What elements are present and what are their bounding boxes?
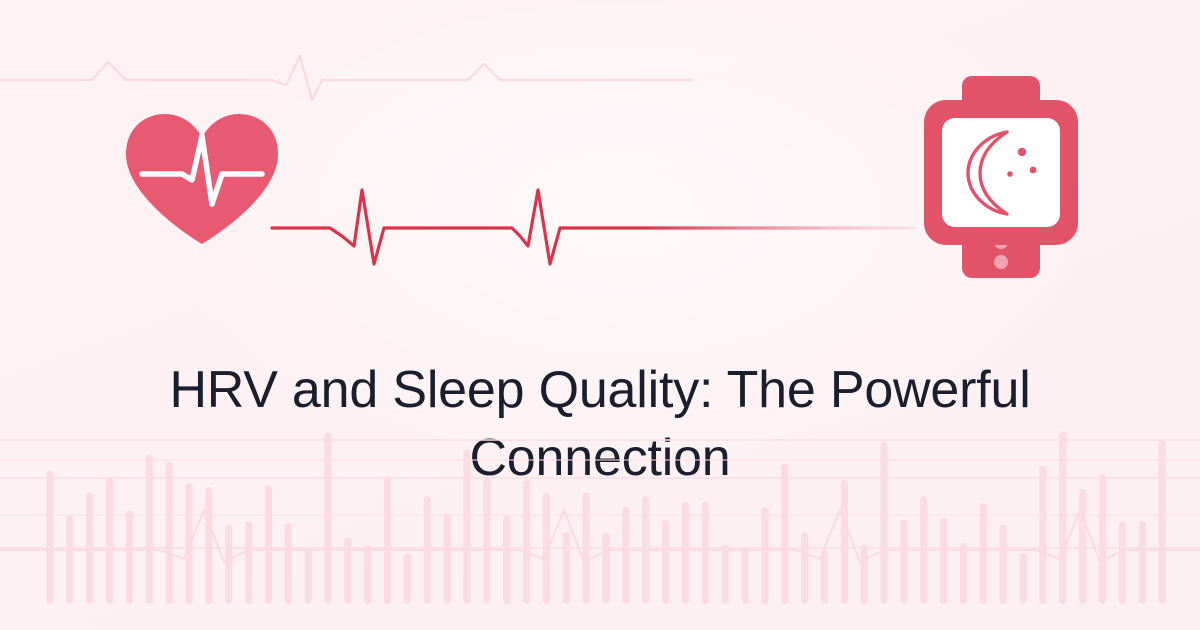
chart-bar: [106, 478, 113, 604]
chart-bar: [821, 550, 828, 604]
ecg-waveform-path: [272, 190, 914, 264]
chart-bar: [146, 455, 153, 604]
chart-bar: [741, 546, 748, 604]
chart-bar: [344, 537, 351, 604]
chart-bar: [185, 483, 192, 604]
chart-bar: [1019, 554, 1026, 604]
chart-bar: [483, 478, 490, 604]
chart-bar: [841, 480, 848, 604]
chart-bar: [1139, 521, 1146, 604]
smartwatch-glyph: [916, 70, 1086, 285]
chart-bar: [622, 507, 629, 604]
star-icon-3: [1007, 171, 1013, 177]
share-banner: HRV and Sleep Quality: The Powerful Conn…: [0, 0, 1200, 630]
chart-bar: [46, 471, 53, 604]
hrv-bar-chart-decoration: [0, 420, 1200, 630]
chart-bar: [66, 516, 73, 604]
heart-pulse-icon: [118, 108, 286, 250]
chart-bar: [1000, 525, 1007, 604]
chart-bar: [940, 518, 947, 604]
top-faint-ecg-decoration: [0, 52, 700, 112]
chart-bar: [166, 462, 173, 604]
watch-band-dot-2: [994, 255, 1008, 269]
chart-bar: [324, 433, 331, 604]
ecg-line-icon: [262, 170, 922, 290]
chart-bar: [702, 501, 709, 604]
chart-bar: [1059, 431, 1066, 604]
heart-pulse-glyph: [118, 108, 286, 250]
chart-bar: [801, 532, 808, 604]
chart-bar: [86, 492, 93, 604]
smartwatch-sleep-icon: [916, 70, 1086, 285]
chart-bar: [265, 485, 272, 604]
top-faint-ecg-icon: [0, 52, 700, 112]
ecg-connector-line: [262, 170, 922, 290]
chart-bar: [463, 449, 470, 604]
chart-bar: [781, 464, 788, 604]
chart-bar: [1079, 489, 1086, 604]
chart-bar: [503, 516, 510, 604]
chart-bar: [682, 501, 689, 604]
chart-bar: [1099, 474, 1106, 604]
chart-bar: [205, 487, 212, 604]
chart-overlay-trace: [0, 510, 1200, 562]
chart-bar: [563, 532, 570, 604]
chart-bar: [1159, 440, 1166, 604]
chart-bar: [960, 543, 967, 604]
chart-bar: [900, 519, 907, 604]
chart-bar: [404, 554, 411, 604]
chart-bar: [583, 492, 590, 604]
chart-bar: [523, 480, 530, 604]
chart-bar: [861, 545, 868, 604]
chart-bar: [1119, 521, 1126, 604]
chart-bar: [245, 521, 252, 604]
chart-bar: [305, 548, 312, 604]
chart-bar: [662, 519, 669, 604]
chart-bar: [225, 525, 232, 604]
chart-bar: [384, 476, 391, 604]
chart-bar: [761, 507, 768, 604]
chart-bar: [285, 523, 292, 604]
chart-bar: [1039, 465, 1046, 604]
chart-bar: [722, 545, 729, 604]
star-icon-1: [1018, 148, 1026, 156]
chart-bar: [444, 514, 451, 604]
chart-bar: [980, 503, 987, 604]
chart-bar: [880, 442, 887, 604]
chart-bar: [126, 510, 133, 604]
chart-bar: [602, 532, 609, 604]
hrv-bar-chart: [0, 420, 1200, 630]
chart-bar: [364, 545, 371, 604]
star-icon-2: [1030, 167, 1037, 174]
